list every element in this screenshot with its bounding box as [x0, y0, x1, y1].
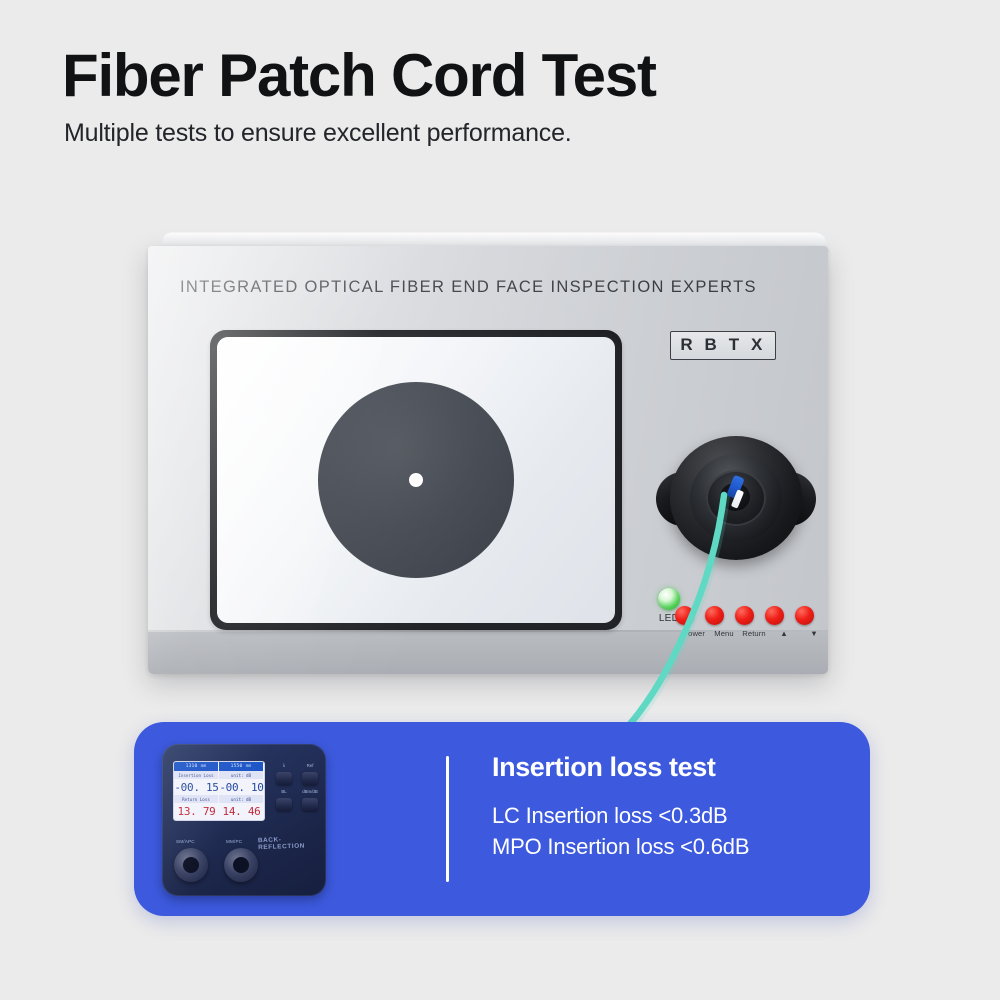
lcd-insertion-value-1310: -00. 15 — [174, 781, 218, 794]
device-screen-frame — [210, 330, 622, 630]
device-button-menu[interactable] — [705, 606, 724, 625]
feature-card: 1310 nm 1550 nm Insertion Loss unit: dB … — [134, 722, 870, 916]
fiber-core-dot — [409, 473, 423, 487]
lcd-return-value-1310: 13. 79 — [178, 805, 216, 818]
meter-key-ref[interactable] — [302, 772, 318, 785]
lcd-insertion-value-1550: -00. 10 — [219, 781, 263, 794]
device-logo: R B T X — [670, 331, 776, 360]
meter-key-lambda[interactable] — [276, 772, 292, 785]
device-body: INTEGRATED OPTICAL FIBER END FACE INSPEC… — [148, 246, 828, 674]
lcd-return-loss-unit: unit: dB — [219, 795, 264, 803]
meter-key-label-dbm: dBm/dB — [300, 789, 320, 794]
fiber-endface-image — [318, 382, 514, 578]
lcd-header-1550: 1550 nm — [219, 762, 264, 771]
card-heading: Insertion loss test — [492, 752, 852, 783]
power-meter-device: 1310 nm 1550 nm Insertion Loss unit: dB … — [162, 744, 326, 896]
device-screen[interactable] — [217, 337, 615, 623]
meter-port-label-mm-pc: MM/PC — [226, 839, 242, 844]
inspection-device: INTEGRATED OPTICAL FIBER END FACE INSPEC… — [148, 228, 830, 678]
page-subtitle: Multiple tests to ensure excellent perfo… — [64, 119, 942, 148]
device-button-label-power: Power — [677, 629, 711, 638]
device-button-return[interactable] — [735, 606, 754, 625]
lcd-insertion-loss-label: Insertion Loss — [174, 771, 219, 779]
meter-port-mm-pc[interactable] — [224, 848, 258, 882]
meter-port-label-sm-apc: SM/APC — [176, 839, 195, 844]
device-button-up[interactable] — [765, 606, 784, 625]
meter-key-label-bl: BL — [274, 789, 294, 794]
lcd-return-value-1550: 14. 46 — [223, 805, 261, 818]
lcd-insertion-loss-unit: unit: dB — [219, 771, 264, 779]
lcd-header-1310: 1310 nm — [174, 762, 219, 771]
card-divider — [446, 756, 449, 882]
page-root: Fiber Patch Cord Test Multiple tests to … — [0, 0, 1000, 1000]
device-button-row: Power Menu Return ▲ ▼ — [675, 606, 825, 646]
meter-key-dbm[interactable] — [302, 798, 318, 811]
lcd-return-loss-label: Return Loss — [174, 795, 219, 803]
device-button-down[interactable] — [795, 606, 814, 625]
card-line-lc: LC Insertion loss <0.3dB — [492, 801, 852, 830]
card-line-mpo: MPO Insertion loss <0.6dB — [492, 832, 852, 861]
device-button-label-menu: Menu — [707, 629, 741, 638]
page-header: Fiber Patch Cord Test Multiple tests to … — [62, 44, 942, 148]
meter-port-sm-apc[interactable] — [174, 848, 208, 882]
power-meter-lcd: 1310 nm 1550 nm Insertion Loss unit: dB … — [173, 761, 265, 821]
device-button-label-down: ▼ — [797, 629, 831, 638]
card-text-block: Insertion loss test LC Insertion loss <0… — [492, 752, 852, 861]
meter-key-label-lambda: λ — [274, 763, 294, 768]
device-button-label-up: ▲ — [767, 629, 801, 638]
page-title: Fiber Patch Cord Test — [62, 44, 942, 107]
device-button-label-return: Return — [737, 629, 771, 638]
meter-key-bl[interactable] — [276, 798, 292, 811]
meter-key-label-ref: Ref — [300, 763, 320, 768]
device-button-power[interactable] — [675, 606, 694, 625]
device-brand-line: INTEGRATED OPTICAL FIBER END FACE INSPEC… — [180, 278, 757, 297]
lens-assembly[interactable] — [656, 428, 816, 568]
meter-marking: BACK-REFLECTION — [258, 835, 326, 851]
